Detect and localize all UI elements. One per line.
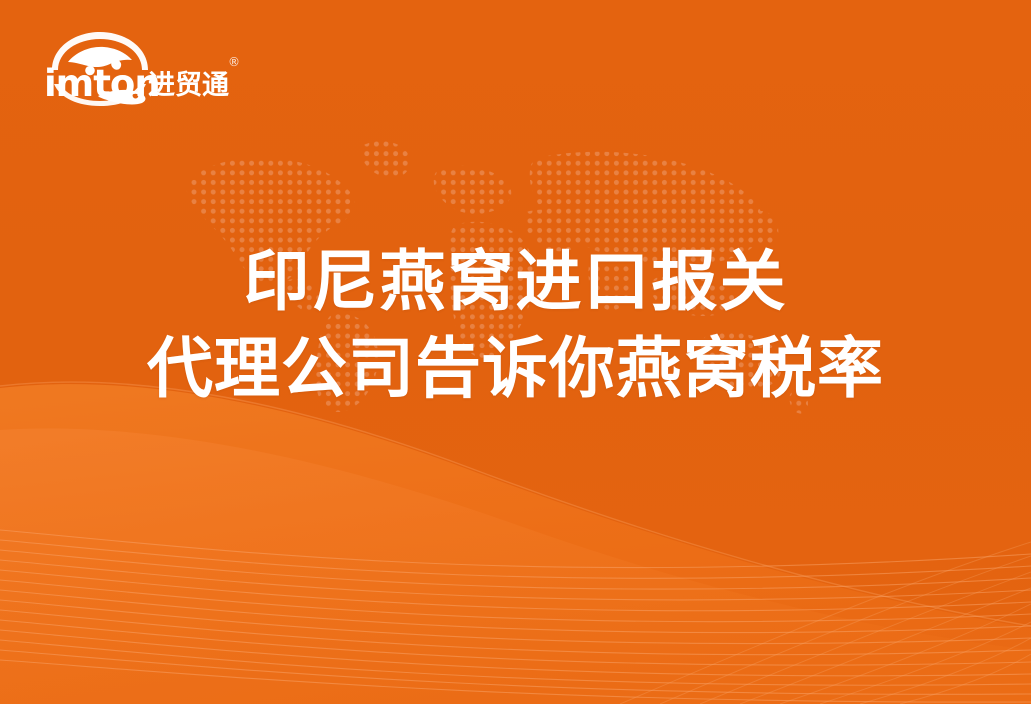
- logo-wordmark: imton: [44, 62, 160, 105]
- headline-line-1: 印尼燕窝进口报关: [0, 238, 1031, 325]
- registered-trademark-icon: ®: [228, 55, 240, 69]
- promo-banner: imton 进贸通 ® 印尼燕窝进口报关 代理公司告诉你燕窝税率: [0, 0, 1031, 704]
- curve-line-pattern: [0, 524, 1031, 704]
- logo-chinese-name: 进贸通: [148, 70, 229, 101]
- brand-logo[interactable]: imton 进贸通 ®: [38, 26, 253, 108]
- headline: 印尼燕窝进口报关 代理公司告诉你燕窝税率: [0, 238, 1031, 412]
- headline-line-2: 代理公司告诉你燕窝税率: [0, 325, 1031, 412]
